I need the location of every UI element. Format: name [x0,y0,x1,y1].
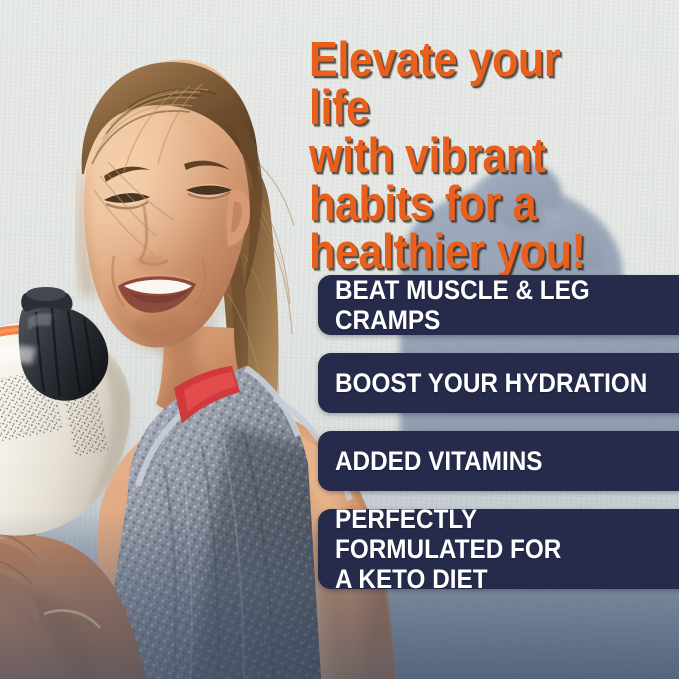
feature-label: BOOST YOUR HYDRATION [335,368,647,398]
feature-item-keto: PERFECTLY FORMULATED FOR A KETO DIET [318,509,679,589]
feature-item-cramps: BEAT MUSCLE & LEG CRAMPS [318,275,679,335]
page-title: Elevate your life with vibrant habits fo… [309,36,631,276]
feature-label: ADDED VITAMINS [335,446,542,476]
feature-label: PERFECTLY FORMULATED FOR A KETO DIET [335,504,649,594]
feature-item-hydration: BOOST YOUR HYDRATION [318,353,679,413]
feature-label: BEAT MUSCLE & LEG CRAMPS [335,275,649,335]
feature-item-vitamins: ADDED VITAMINS [318,431,679,491]
feature-list: BEAT MUSCLE & LEG CRAMPS BOOST YOUR HYDR… [318,275,679,607]
promo-poster: Elevate your life with vibrant habits fo… [0,0,679,679]
